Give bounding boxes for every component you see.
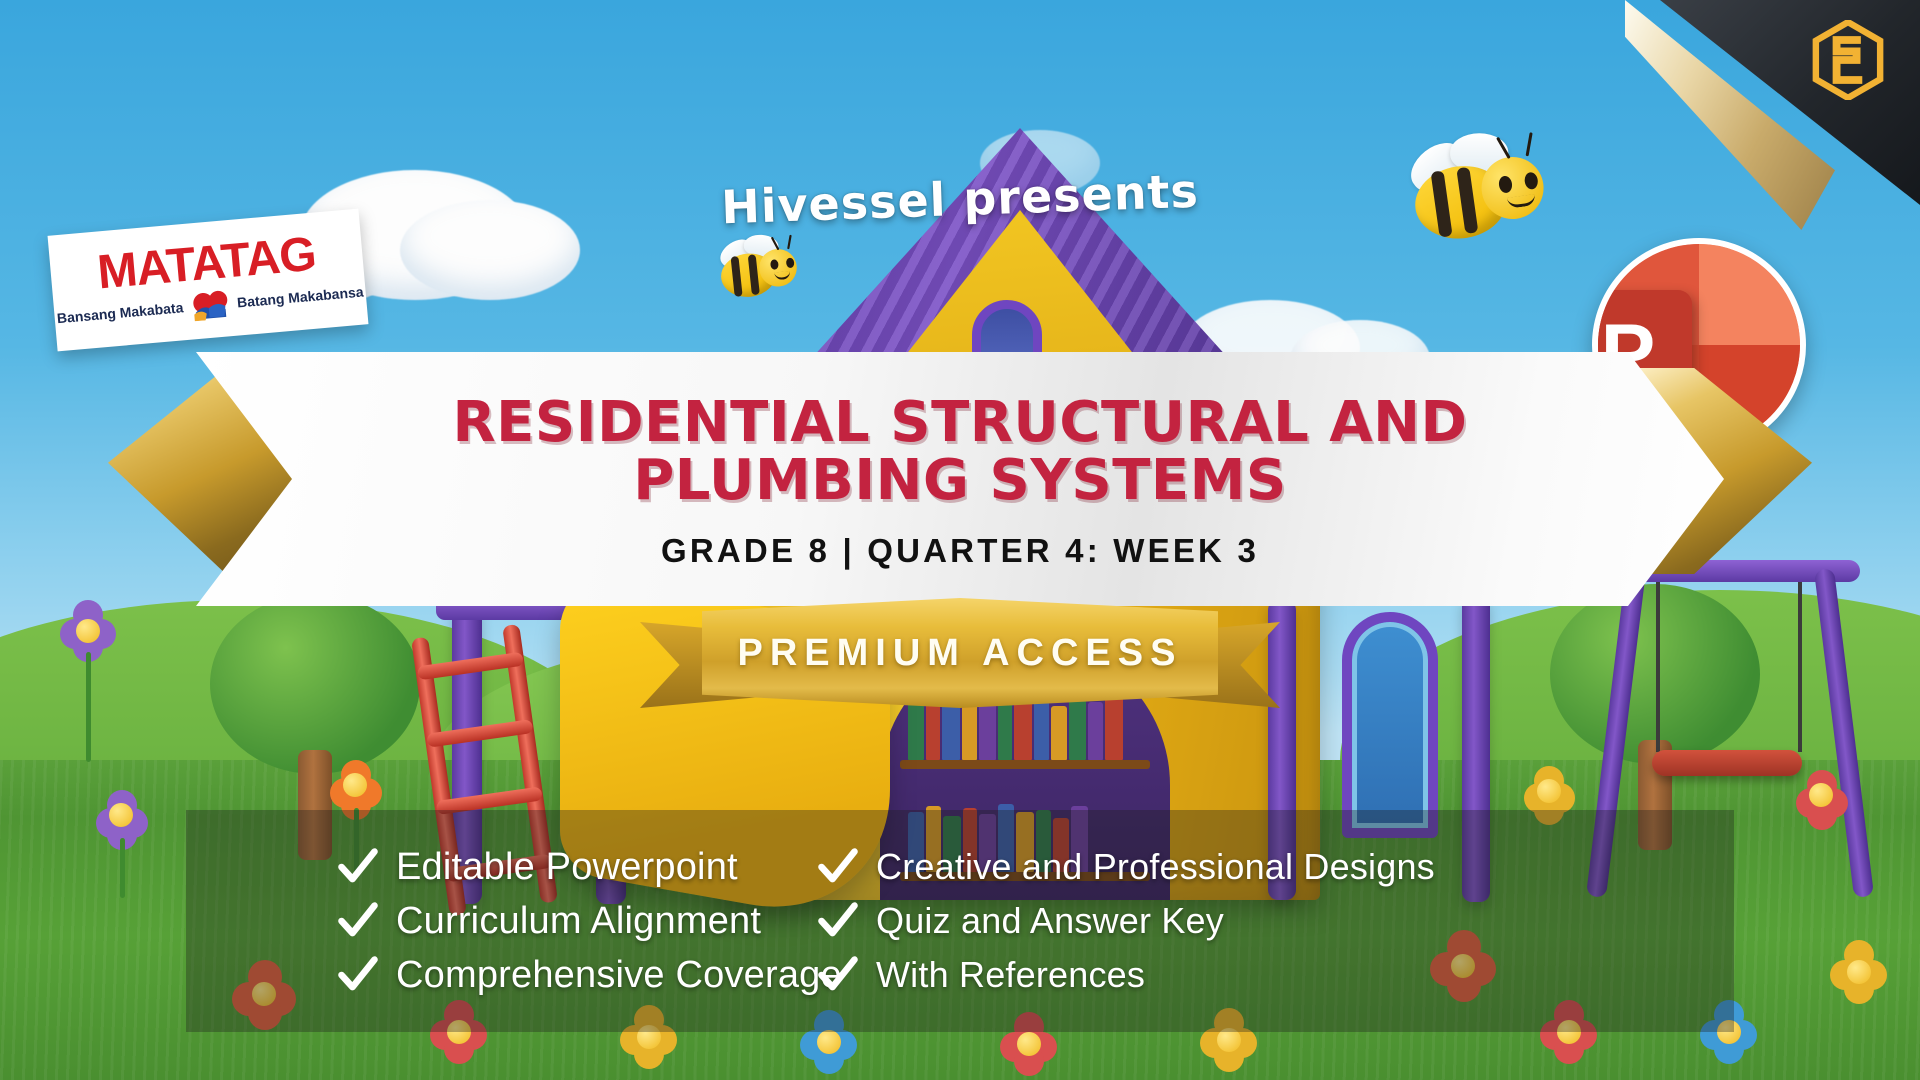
checkmark-icon <box>816 845 860 889</box>
flower-icon <box>1524 766 1574 816</box>
checkmark-icon <box>816 953 860 997</box>
premium-access-ribbon: PREMIUM ACCESS <box>640 598 1280 722</box>
feature-label: Curriculum Alignment <box>396 900 761 943</box>
hexagon-honeycomb-logo <box>1812 20 1884 100</box>
page-title: RESIDENTIAL STRUCTURAL AND PLUMBING SYST… <box>453 394 1468 509</box>
matatag-tagline-right: Batang Makabansa <box>236 284 364 311</box>
feature-label: With References <box>876 954 1145 996</box>
flower-stem <box>120 838 125 898</box>
flower-icon <box>1830 940 1888 998</box>
feature-column-left: Editable Powerpoint Curriculum Alignment… <box>206 845 766 997</box>
bee-icon <box>705 237 805 316</box>
feature-list-bar: Editable Powerpoint Curriculum Alignment… <box>186 810 1734 1032</box>
checkmark-icon <box>336 899 380 943</box>
brand-presents-text: Hivessel presents <box>720 164 1199 235</box>
checkmark-icon <box>336 953 380 997</box>
title-line-1: RESIDENTIAL STRUCTURAL AND <box>453 394 1468 452</box>
flower-stem <box>86 652 91 762</box>
cloud-icon <box>400 200 580 300</box>
list-item: Creative and Professional Designs <box>816 845 1714 889</box>
title-banner: RESIDENTIAL STRUCTURAL AND PLUMBING SYST… <box>196 352 1724 606</box>
flower-icon <box>1796 770 1848 822</box>
bookshelf <box>900 760 1150 769</box>
flower-icon <box>96 790 148 842</box>
matatag-tagline-left: Bansang Makabata <box>56 299 184 326</box>
list-item: Comprehensive Coverage <box>336 953 766 997</box>
premium-access-label: PREMIUM ACCESS <box>738 632 1183 675</box>
matatag-hands-emblem <box>189 288 231 321</box>
feature-label: Creative and Professional Designs <box>876 846 1435 888</box>
flower-icon <box>60 600 116 656</box>
bee-icon <box>1390 137 1565 278</box>
product-thumbnail: Hivessel presents MATATAG Bansang Makaba… <box>0 0 1920 1080</box>
matatag-logo: MATATAG Bansang Makabata Batang Makabans… <box>48 209 369 352</box>
feature-label: Editable Powerpoint <box>396 846 738 889</box>
list-item: Curriculum Alignment <box>336 899 766 943</box>
feature-column-right: Creative and Professional Designs Quiz a… <box>766 845 1714 997</box>
checkmark-icon <box>336 845 380 889</box>
checkmark-icon <box>816 899 860 943</box>
ribbon-body: PREMIUM ACCESS <box>702 598 1218 708</box>
house-window <box>1342 612 1438 838</box>
list-item: With References <box>816 953 1714 997</box>
flower-icon <box>330 760 382 812</box>
feature-label: Quiz and Answer Key <box>876 900 1224 942</box>
title-line-2: PLUMBING SYSTEMS <box>453 452 1468 510</box>
grade-quarter-subtitle: GRADE 8 | QUARTER 4: WEEK 3 <box>661 532 1259 570</box>
list-item: Quiz and Answer Key <box>816 899 1714 943</box>
list-item: Editable Powerpoint <box>336 845 766 889</box>
